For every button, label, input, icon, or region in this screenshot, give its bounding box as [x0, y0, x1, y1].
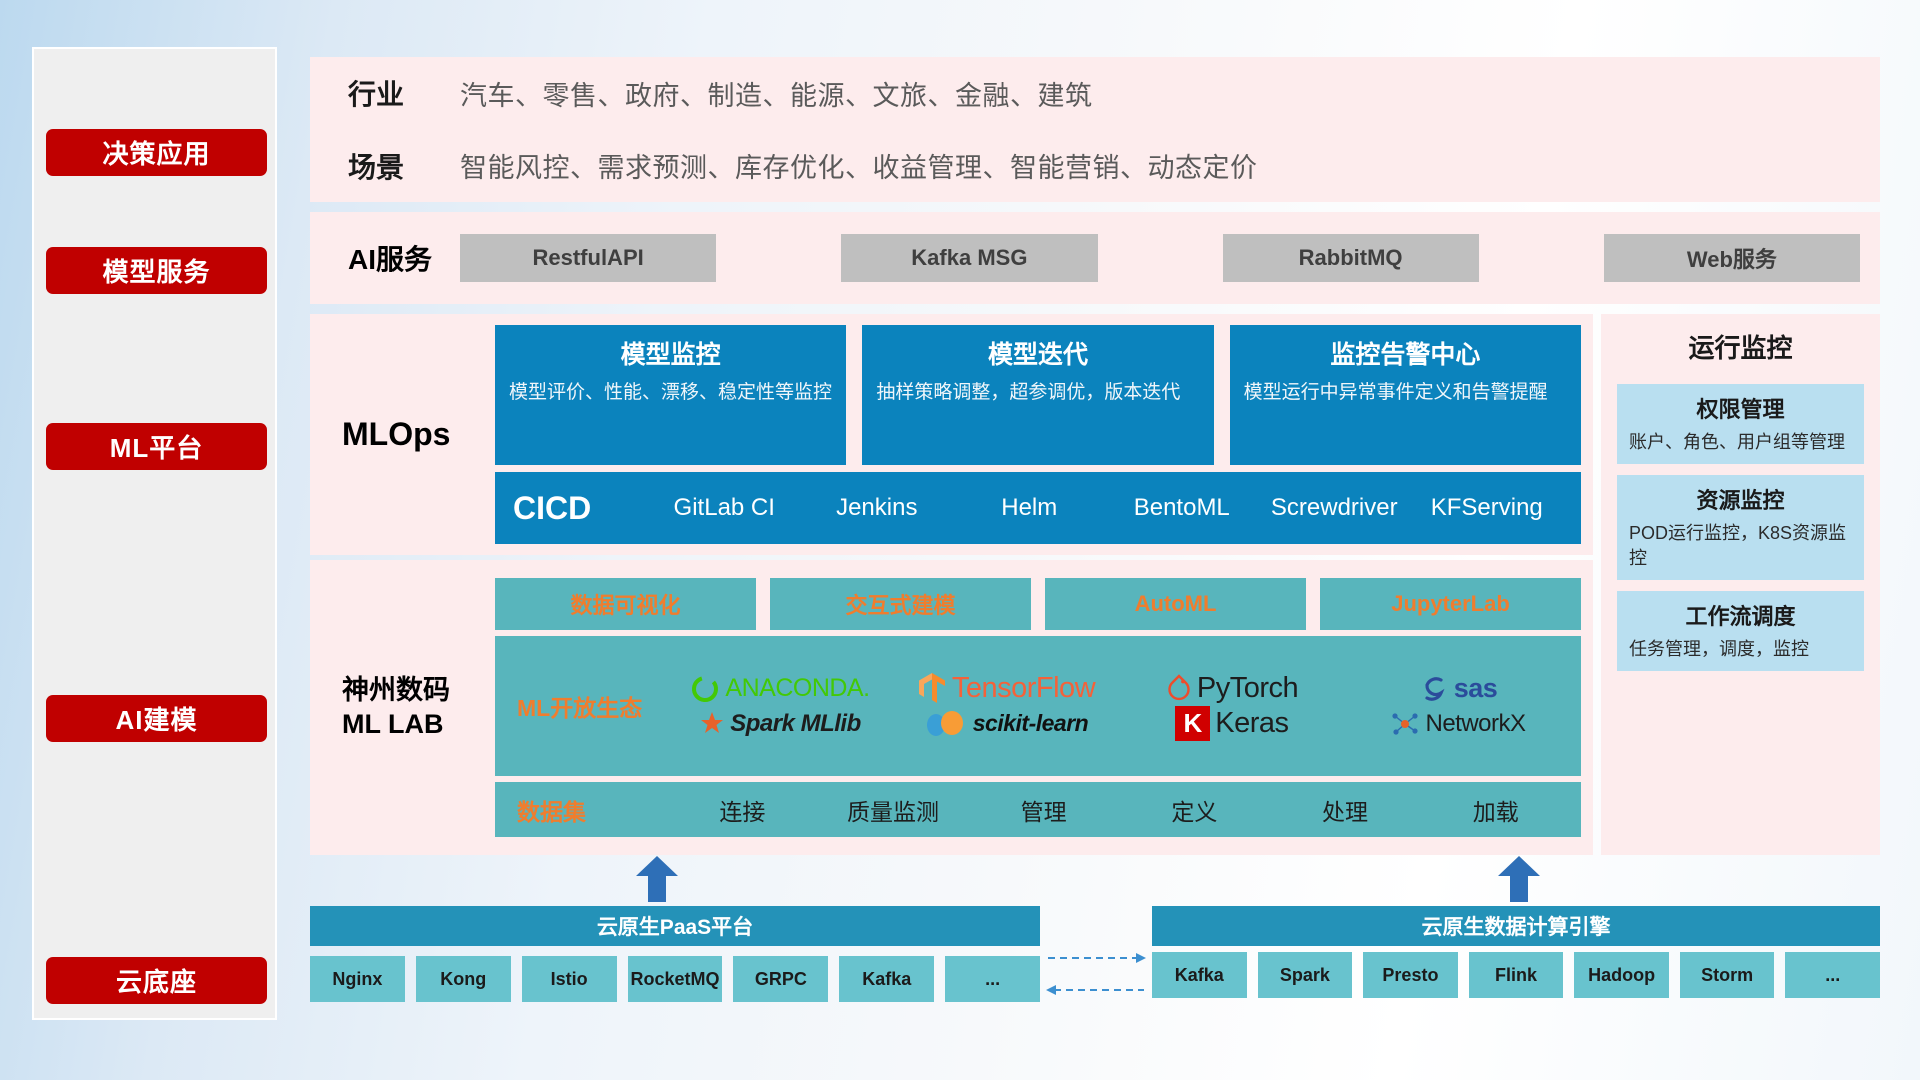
arrow-up-paas-icon [636, 856, 678, 902]
scene-key: 场景 [310, 146, 460, 186]
service-chip-kafka-msg[interactable]: Kafka MSG [841, 234, 1097, 282]
paas-pill-more[interactable]: ... [945, 956, 1040, 1002]
tool-chip-interactive-modeling[interactable]: 交互式建模 [770, 578, 1031, 630]
cicd-items: GitLab CI Jenkins Helm BentoML Screwdriv… [648, 495, 1563, 520]
card-desc: POD运行监控，K8S资源监控 [1629, 521, 1852, 570]
card-title: 工作流调度 [1629, 599, 1852, 631]
tensorflow-icon [917, 672, 947, 706]
engine-pill-flink[interactable]: Flink [1469, 952, 1564, 998]
modeling-band: 神州数码 ML LAB 数据可视化 交互式建模 AutoML JupyterLa… [310, 560, 1593, 855]
dataset-item-process[interactable]: 处理 [1270, 793, 1421, 827]
service-chip-web[interactable]: Web服务 [1604, 234, 1860, 282]
service-chip-rabbitmq[interactable]: RabbitMQ [1223, 234, 1479, 282]
keras-logo: K Keras [1175, 706, 1288, 741]
pytorch-logo: PyTorch [1166, 672, 1298, 705]
service-chip-restfulapi[interactable]: RestfulAPI [460, 234, 716, 282]
layer-rail: 决策应用 模型服务 ML平台 AI建模 云底座 [32, 47, 277, 1020]
engine-pill-presto[interactable]: Presto [1363, 952, 1458, 998]
networkx-icon [1390, 710, 1420, 738]
mlops-card-alert-center[interactable]: 监控告警中心 模型运行中异常事件定义和告警提醒 [1230, 325, 1581, 465]
card-title: 监控告警中心 [1244, 335, 1567, 371]
rail-item-ai-modeling[interactable]: AI建模 [46, 695, 267, 742]
monitor-card-workflow[interactable]: 工作流调度 任务管理，调度，监控 [1617, 591, 1864, 671]
ecosystem-row: ML开放生态 ANACONDA. Ten [495, 636, 1581, 776]
spark-mllib-logo: Spark MLlib [699, 710, 861, 738]
anaconda-icon [690, 674, 720, 704]
paas-bar[interactable]: 云原生PaaS平台 [310, 906, 1040, 946]
modeling-content: 数据可视化 交互式建模 AutoML JupyterLab ML开放生态 ANA… [495, 578, 1593, 837]
ecosystem-title: ML开放生态 [517, 689, 667, 723]
ai-service-label: AI服务 [310, 238, 460, 278]
rail-item-model-service[interactable]: 模型服务 [46, 247, 267, 294]
cicd-item-jenkins[interactable]: Jenkins [801, 495, 954, 520]
rail-item-label: 模型服务 [102, 252, 210, 289]
engine-pill-hadoop[interactable]: Hadoop [1574, 952, 1669, 998]
paas-pill-kafka[interactable]: Kafka [839, 956, 934, 1002]
mlops-card-model-monitoring[interactable]: 模型监控 模型评价、性能、漂移、稳定性等监控 [495, 325, 846, 465]
paas-bar-label: 云原生PaaS平台 [597, 911, 753, 941]
card-title: 权限管理 [1629, 392, 1852, 424]
dataset-row: 数据集 连接 质量监测 管理 定义 处理 加载 [495, 782, 1581, 837]
scikit-learn-logo: scikit-learn [924, 709, 1088, 739]
monitor-card-permission[interactable]: 权限管理 账户、角色、用户组等管理 [1617, 384, 1864, 464]
tensorflow-label: TensorFlow [952, 672, 1095, 705]
rail-item-ml-platform[interactable]: ML平台 [46, 423, 267, 470]
mlops-content: 模型监控 模型评价、性能、漂移、稳定性等监控 模型迭代 抽样策略调整，超参调优，… [495, 325, 1593, 544]
dataset-item-load[interactable]: 加载 [1420, 793, 1571, 827]
paas-pill-row: Nginx Kong Istio RocketMQ GRPC Kafka ... [310, 956, 1040, 1002]
dataset-item-quality-monitoring[interactable]: 质量监测 [818, 793, 969, 827]
ecosystem-logo-grid: ANACONDA. TensorFlow [667, 671, 1571, 741]
monitor-card-resource[interactable]: 资源监控 POD运行监控，K8S资源监控 [1617, 475, 1864, 580]
mlops-band: MLOps 模型监控 模型评价、性能、漂移、稳定性等监控 模型迭代 抽样策略调整… [310, 314, 1593, 555]
networkx-label: NetworkX [1425, 710, 1525, 738]
industry-row: 行业 汽车、零售、政府、制造、能源、文旅、金融、建筑 [310, 57, 1880, 130]
engine-bar[interactable]: 云原生数据计算引擎 [1152, 906, 1880, 946]
industry-band: 行业 汽车、零售、政府、制造、能源、文旅、金融、建筑 场景 智能风控、需求预测、… [310, 57, 1880, 202]
dataset-item-connect[interactable]: 连接 [667, 793, 818, 827]
card-desc: 抽样策略调整，超参调优，版本迭代 [876, 380, 1199, 406]
paas-pill-istio[interactable]: Istio [522, 956, 617, 1002]
keras-label: Keras [1215, 707, 1288, 740]
cicd-item-helm[interactable]: Helm [953, 495, 1106, 520]
dataset-item-manage[interactable]: 管理 [968, 793, 1119, 827]
runtime-monitor-title: 运行监控 [1601, 314, 1880, 373]
rail-item-label: 决策应用 [102, 134, 210, 171]
ai-service-band: AI服务 RestfulAPI Kafka MSG RabbitMQ Web服务 [310, 212, 1880, 304]
scikit-learn-label: scikit-learn [973, 710, 1088, 737]
card-title: 模型迭代 [876, 335, 1199, 371]
engine-pill-kafka[interactable]: Kafka [1152, 952, 1247, 998]
industry-key: 行业 [310, 73, 460, 113]
modeling-label-line1: 神州数码 [342, 674, 495, 708]
engine-bar-label: 云原生数据计算引擎 [1422, 911, 1611, 941]
ai-service-chips: RestfulAPI Kafka MSG RabbitMQ Web服务 [460, 234, 1880, 282]
industry-value: 汽车、零售、政府、制造、能源、文旅、金融、建筑 [460, 74, 1093, 113]
cicd-title: CICD [513, 490, 648, 527]
scikit-learn-icon [924, 709, 968, 739]
mlops-card-row: 模型监控 模型评价、性能、漂移、稳定性等监控 模型迭代 抽样策略调整，超参调优，… [495, 325, 1581, 465]
pytorch-icon [1166, 674, 1192, 704]
cicd-item-screwdriver[interactable]: Screwdriver [1258, 495, 1411, 520]
sas-label: sas [1454, 673, 1498, 704]
cicd-item-gitlab-ci[interactable]: GitLab CI [648, 495, 801, 520]
paas-pill-rocketmq[interactable]: RocketMQ [628, 956, 723, 1002]
scene-value: 智能风控、需求预测、库存优化、收益管理、智能营销、动态定价 [460, 146, 1258, 185]
tool-chip-jupyterlab[interactable]: JupyterLab [1320, 578, 1581, 630]
engine-pill-row: Kafka Spark Presto Flink Hadoop Storm ..… [1152, 952, 1880, 998]
rail-item-cloud-base[interactable]: 云底座 [46, 957, 267, 1004]
card-title: 资源监控 [1629, 483, 1852, 515]
arrow-up-engine-icon [1498, 856, 1540, 902]
mlops-label: MLOps [310, 416, 495, 453]
tool-chip-automl[interactable]: AutoML [1045, 578, 1306, 630]
anaconda-label: ANACONDA. [725, 674, 869, 703]
rail-item-decision-app[interactable]: 决策应用 [46, 129, 267, 176]
anaconda-logo: ANACONDA. [690, 674, 869, 704]
mlops-card-model-iteration[interactable]: 模型迭代 抽样策略调整，超参调优，版本迭代 [862, 325, 1213, 465]
card-desc: 模型评价、性能、漂移、稳定性等监控 [509, 380, 832, 406]
dataset-title: 数据集 [517, 793, 667, 827]
spark-label: Spark MLlib [730, 710, 861, 738]
card-desc: 账户、角色、用户组等管理 [1629, 430, 1852, 454]
card-title: 模型监控 [509, 335, 832, 371]
cicd-row: CICD GitLab CI Jenkins Helm BentoML Scre… [495, 472, 1581, 544]
runtime-monitor-band: 运行监控 权限管理 账户、角色、用户组等管理 资源监控 POD运行监控，K8S资… [1601, 314, 1880, 855]
scene-row: 场景 智能风控、需求预测、库存优化、收益管理、智能营销、动态定价 [310, 130, 1880, 203]
cicd-item-bentoml[interactable]: BentoML [1106, 495, 1259, 520]
tool-chip-data-visualization[interactable]: 数据可视化 [495, 578, 756, 630]
tensorflow-logo: TensorFlow [917, 672, 1095, 706]
card-desc: 模型运行中异常事件定义和告警提醒 [1244, 380, 1567, 406]
pytorch-label: PyTorch [1197, 672, 1298, 705]
dataset-items: 连接 质量监测 管理 定义 处理 加载 [667, 793, 1571, 827]
card-desc: 任务管理，调度，监控 [1629, 637, 1852, 661]
paas-pill-grpc[interactable]: GRPC [733, 956, 828, 1002]
keras-k-icon: K [1175, 706, 1210, 741]
cicd-item-kfserving[interactable]: KFServing [1411, 495, 1564, 520]
modeling-label: 神州数码 ML LAB [310, 674, 495, 742]
dataset-item-define[interactable]: 定义 [1119, 793, 1270, 827]
paas-pill-kong[interactable]: Kong [416, 956, 511, 1002]
engine-pill-spark[interactable]: Spark [1258, 952, 1353, 998]
rail-item-label: AI建模 [115, 700, 197, 737]
sas-icon [1419, 675, 1449, 703]
engine-pill-more[interactable]: ... [1785, 952, 1880, 998]
rail-item-label: ML平台 [110, 428, 204, 465]
sas-logo: sas [1419, 673, 1498, 704]
rail-item-label: 云底座 [116, 962, 197, 999]
spark-icon [699, 711, 725, 737]
diagram-canvas: 决策应用 模型服务 ML平台 AI建模 云底座 行业 汽车、零售、政府、制造、能… [0, 0, 1920, 1080]
paas-pill-nginx[interactable]: Nginx [310, 956, 405, 1002]
networkx-logo: NetworkX [1390, 710, 1525, 738]
modeling-label-line2: ML LAB [342, 708, 495, 742]
bidirectional-dashed-link-icon [1046, 948, 1146, 1000]
engine-pill-storm[interactable]: Storm [1680, 952, 1775, 998]
modeling-tool-row: 数据可视化 交互式建模 AutoML JupyterLab [495, 578, 1581, 630]
